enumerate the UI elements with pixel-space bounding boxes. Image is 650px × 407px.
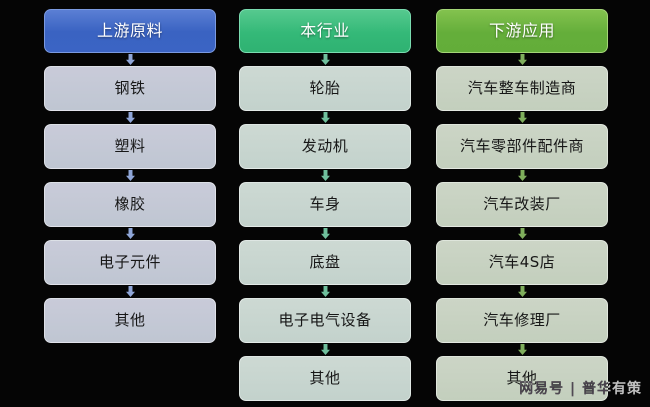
- node-upstream-4[interactable]: 其他: [44, 298, 216, 343]
- column-header-downstream[interactable]: 下游应用: [436, 9, 608, 53]
- connector-arrow-icon: [518, 112, 527, 123]
- connector-arrow-icon: [321, 54, 330, 65]
- connector-arrow-icon: [518, 170, 527, 181]
- connector-arrow-icon: [126, 112, 135, 123]
- connector-arrow-icon: [126, 170, 135, 181]
- connector-arrow-icon: [518, 228, 527, 239]
- connector-arrow-icon: [126, 54, 135, 65]
- node-industry-5[interactable]: 其他: [239, 356, 411, 401]
- diagram-canvas: 上游原料钢铁塑料橡胶电子元件其他 本行业轮胎发动机车身底盘电子电气设备其他 下游…: [0, 0, 650, 407]
- node-downstream-4[interactable]: 汽车修理厂: [436, 298, 608, 343]
- diagram-column-downstream: 下游应用汽车整车制造商汽车零部件配件商汽车改装厂汽车4S店汽车修理厂其他: [436, 0, 608, 407]
- node-industry-4[interactable]: 电子电气设备: [239, 298, 411, 343]
- node-upstream-3[interactable]: 电子元件: [44, 240, 216, 285]
- connector-arrow-icon: [321, 228, 330, 239]
- connector-arrow-icon: [518, 54, 527, 65]
- node-industry-1[interactable]: 发动机: [239, 124, 411, 169]
- connector-arrow-icon: [321, 344, 330, 355]
- node-downstream-3[interactable]: 汽车4S店: [436, 240, 608, 285]
- connector-arrow-icon: [126, 286, 135, 297]
- watermark: 网易号 | 普华有策: [519, 378, 642, 398]
- column-header-upstream[interactable]: 上游原料: [44, 9, 216, 53]
- node-downstream-0[interactable]: 汽车整车制造商: [436, 66, 608, 111]
- diagram-column-industry: 本行业轮胎发动机车身底盘电子电气设备其他: [239, 0, 411, 407]
- connector-arrow-icon: [518, 344, 527, 355]
- node-upstream-2[interactable]: 橡胶: [44, 182, 216, 227]
- node-industry-2[interactable]: 车身: [239, 182, 411, 227]
- connector-arrow-icon: [518, 286, 527, 297]
- node-downstream-1[interactable]: 汽车零部件配件商: [436, 124, 608, 169]
- connector-arrow-icon: [126, 228, 135, 239]
- node-downstream-2[interactable]: 汽车改装厂: [436, 182, 608, 227]
- node-upstream-0[interactable]: 钢铁: [44, 66, 216, 111]
- connector-arrow-icon: [321, 112, 330, 123]
- connector-arrow-icon: [321, 286, 330, 297]
- node-upstream-1[interactable]: 塑料: [44, 124, 216, 169]
- diagram-column-upstream: 上游原料钢铁塑料橡胶电子元件其他: [44, 0, 216, 407]
- node-industry-3[interactable]: 底盘: [239, 240, 411, 285]
- connector-arrow-icon: [321, 170, 330, 181]
- column-header-industry[interactable]: 本行业: [239, 9, 411, 53]
- node-industry-0[interactable]: 轮胎: [239, 66, 411, 111]
